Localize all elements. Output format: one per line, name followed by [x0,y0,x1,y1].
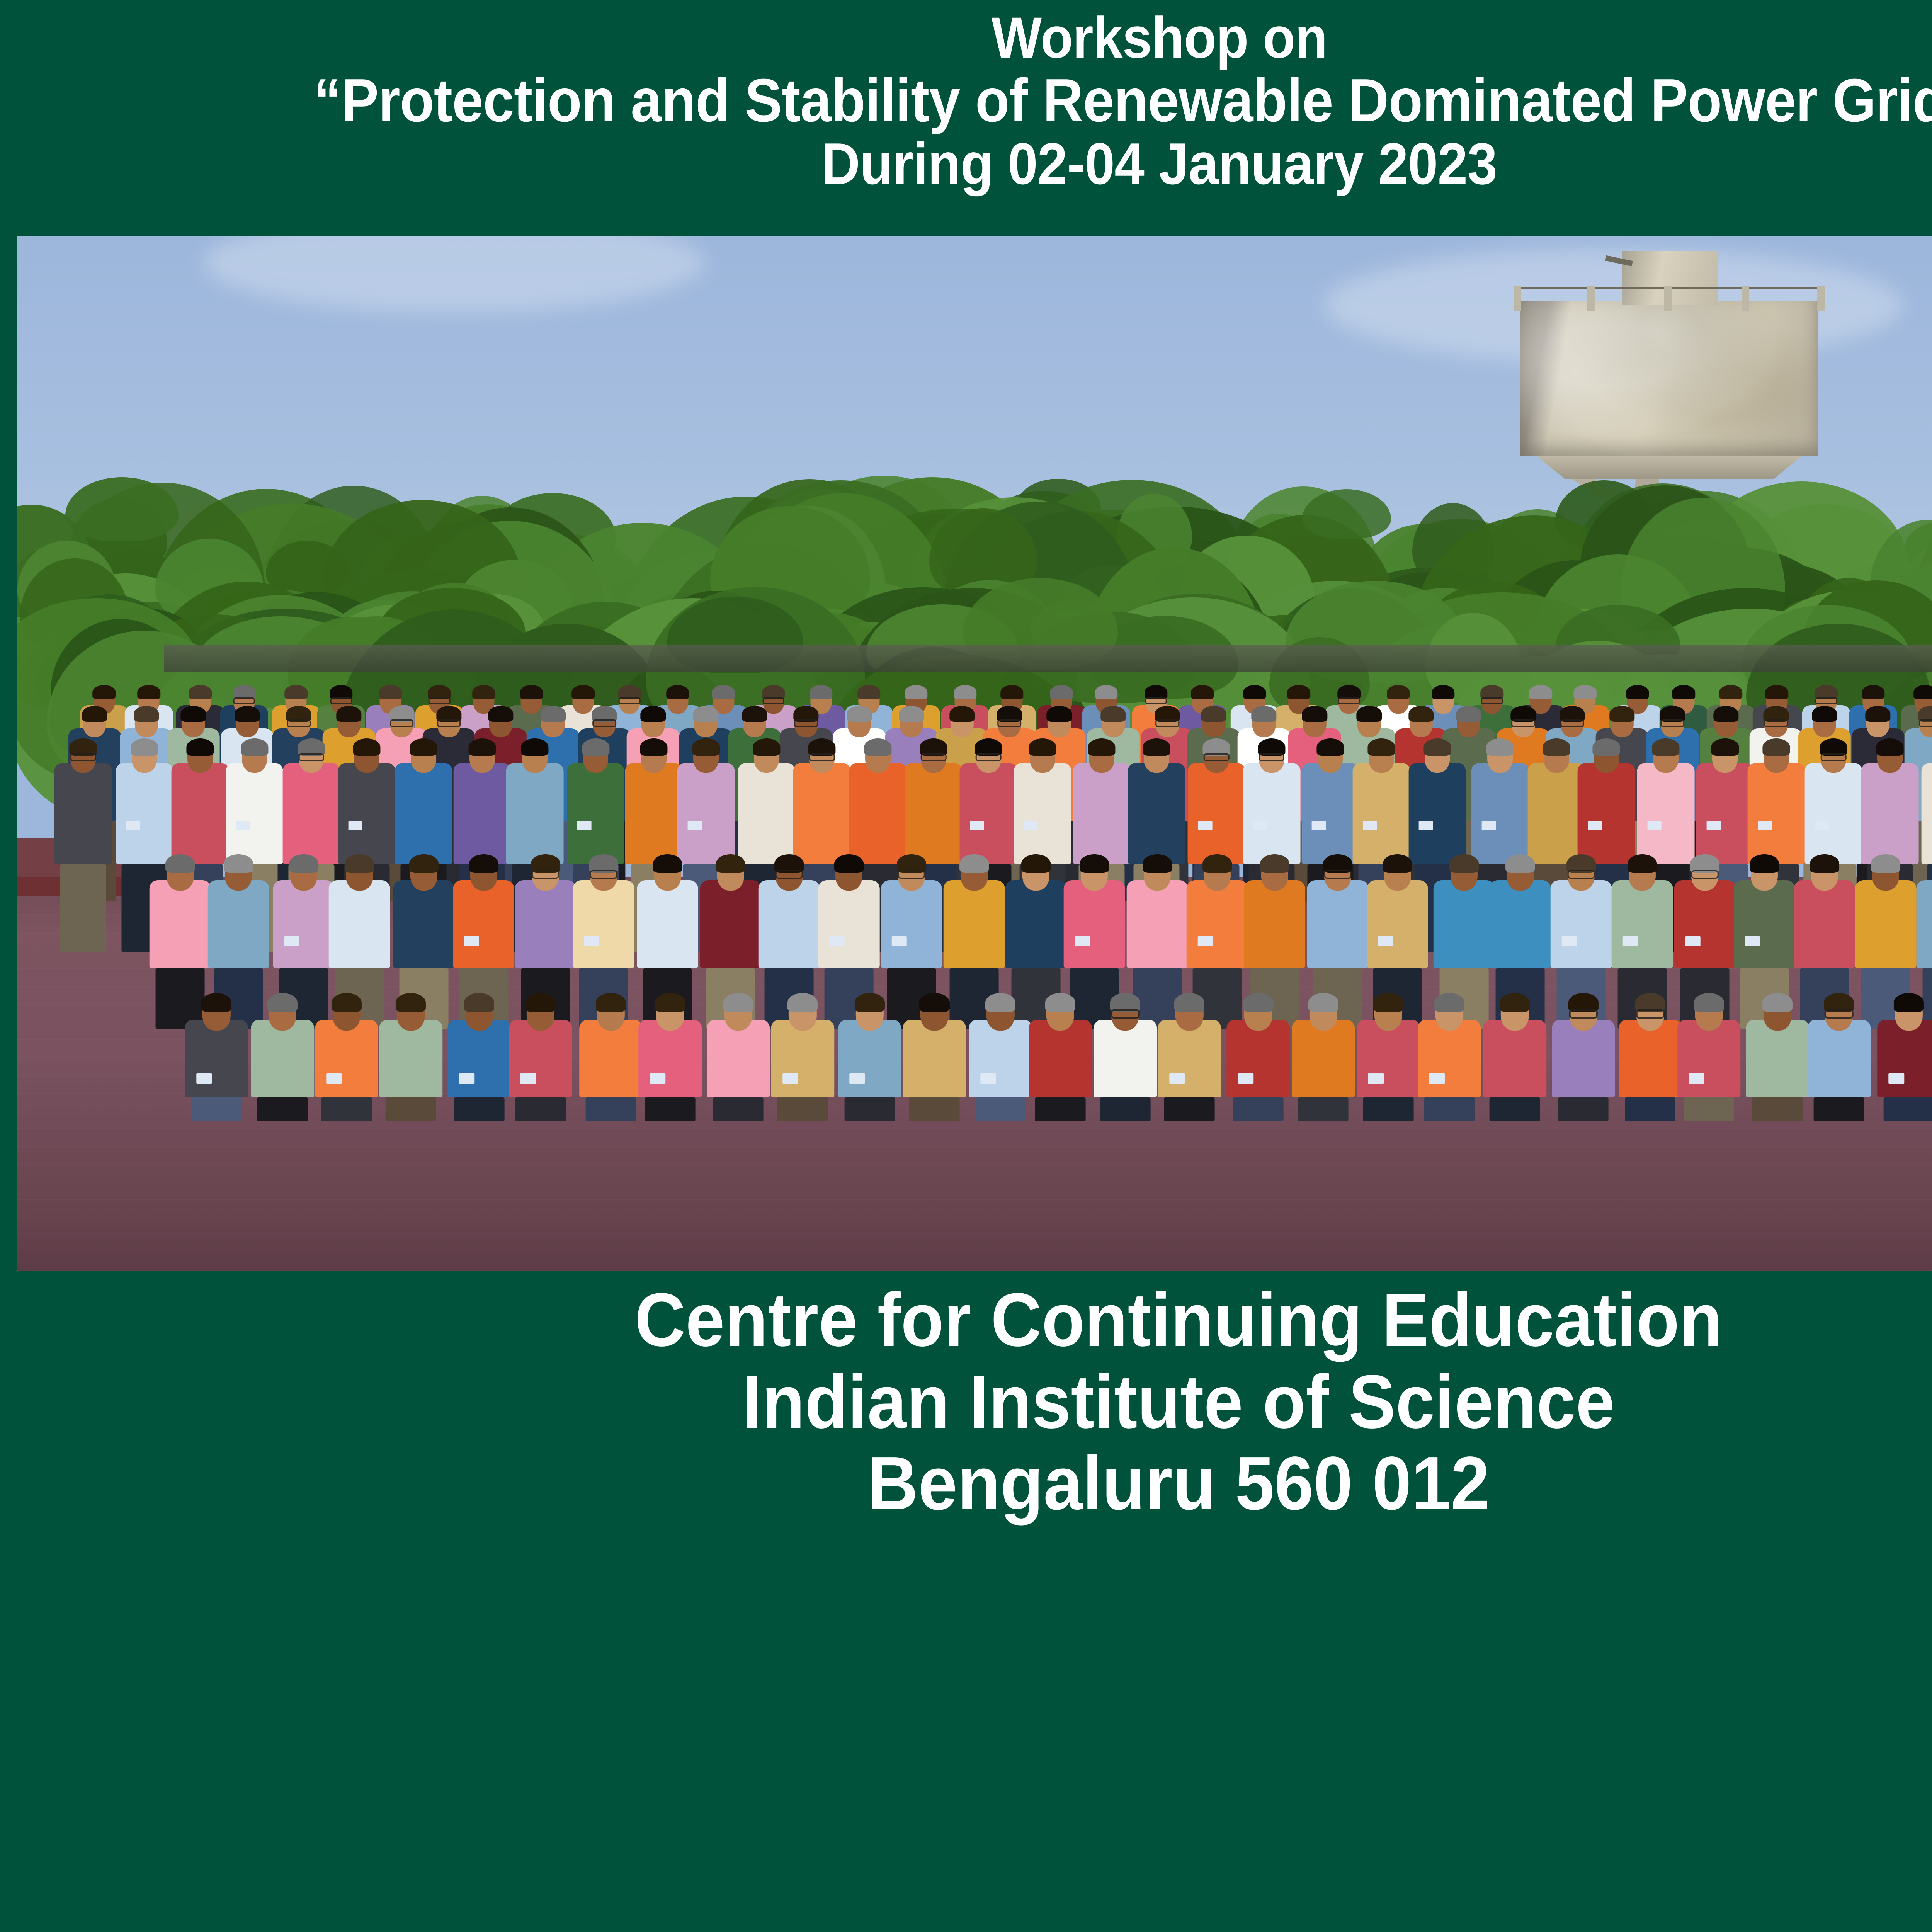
name-badge [1758,821,1772,830]
participant-torso [282,763,340,864]
name-badge [1588,821,1602,830]
participant-lower-body [777,1097,828,1121]
participant-torso [226,763,283,864]
participant-hair [1913,685,1932,700]
participant-lower-body [321,1097,372,1121]
participant-torso [639,1020,702,1097]
name-badge [577,821,592,830]
participant-hair [332,993,362,1012]
participant-hair [1456,706,1481,722]
participant-lower-body [1490,1097,1540,1121]
participant-hair [596,993,626,1012]
participant-lower-body [1035,1097,1086,1121]
name-badge [1685,936,1701,946]
participant-lower-body [1884,1097,1932,1121]
participant-torso [1552,1020,1615,1097]
participant-hair [960,854,989,873]
participant [838,989,901,1124]
participant-lower-body [645,1097,696,1121]
eyeglasses [592,719,616,727]
participant [1029,989,1092,1124]
participant [1158,989,1221,1124]
participant [1292,989,1355,1124]
participant-hair [1287,685,1310,700]
participant-hair [345,854,374,873]
participant-hair [1500,993,1530,1012]
name-badge [782,1073,798,1084]
participant-torso [1094,1020,1156,1097]
participant-hair [712,685,735,700]
name-badge [459,1073,474,1084]
name-badge [1745,936,1760,946]
eyeglasses [1259,753,1284,761]
participant-torso [1577,763,1635,864]
participant-hair [469,854,498,873]
group-photograph [17,236,1932,1271]
participant-lower-body [1363,1097,1414,1121]
participant-hair [1100,706,1126,722]
participant-hair [787,993,818,1012]
participant-torso [379,1020,442,1097]
participant-hair [1592,738,1620,756]
participant-torso [1227,1020,1290,1097]
participant-hair [1486,738,1514,756]
eyeglasses [1661,719,1685,727]
eyeglasses [532,870,559,878]
participant-torso [637,880,698,968]
participant-torso [329,880,390,968]
participant [969,989,1032,1124]
participant-torso [509,1020,572,1097]
participant-hair [1243,993,1273,1012]
name-badge [1024,821,1038,830]
participant-hair [919,993,949,1012]
participant-hair [1719,685,1742,700]
participant-torso [338,763,395,864]
participant-lower-body [515,1097,566,1121]
name-badge [1378,936,1393,946]
participant-torso [677,763,735,864]
eyeglasses [590,870,617,878]
participant [448,989,511,1124]
participant-hair [82,706,107,722]
participant-hair [693,706,718,722]
participant-torso [1408,763,1466,864]
participant-hair [985,993,1015,1012]
participant-torso [1619,1020,1682,1097]
participant-torso [1292,1020,1355,1097]
participant-torso [315,1020,378,1097]
participant [54,735,112,954]
tank-body [1520,301,1818,456]
participant-hair [541,706,566,722]
participant-torso [1073,763,1131,864]
participant-torso [1301,763,1359,864]
participant-torso [1855,880,1917,968]
header-line-title: “Protection and Stability of Renewable D… [313,68,1932,133]
participant-hair [396,993,426,1012]
participant [251,989,314,1124]
participant-hair [1243,685,1266,700]
participant-hair [1373,993,1403,1012]
participant-hair [1201,706,1226,722]
participant-torso [1128,763,1185,864]
participant-torso [1005,880,1067,968]
participant-torso [944,880,1005,968]
name-badge [650,1073,665,1084]
name-badge [196,1073,212,1084]
name-badge [892,936,907,946]
name-badge [1169,1073,1185,1084]
participant-lower-body [585,1097,636,1121]
name-badge [236,821,250,830]
participant-torso [1243,763,1300,864]
name-badge [849,1073,865,1084]
participant [771,989,834,1124]
participant-hair [235,706,260,722]
participant-torso [393,880,454,968]
participant-torso [1244,880,1305,968]
participant-torso [208,880,269,968]
name-badge [284,936,299,946]
participant-hair [857,685,880,700]
participant-torso [1917,880,1932,968]
eyeglasses [1512,719,1536,727]
participant-torso [1794,880,1855,968]
name-badge [1622,936,1638,946]
participant-torso [1064,880,1125,968]
name-badge [1238,1073,1253,1084]
name-badge [126,821,140,830]
participant-torso [1471,763,1529,864]
participant-lower-body [1298,1097,1349,1121]
participant-torso [1014,763,1071,864]
participant-hair [134,706,159,722]
name-badge [688,821,702,830]
participant-hair [336,706,361,722]
participant [185,989,248,1124]
participant-hair [241,738,268,756]
participant-torso [903,1020,966,1097]
participant-hair [1694,993,1724,1012]
participant-lower-body [191,1097,242,1121]
eyeglasses [776,870,803,878]
participant-lower-body [1424,1097,1475,1121]
participant-torso [579,1020,642,1097]
participant [1619,989,1682,1124]
participant-hair [899,706,924,722]
participant-hair [1609,706,1634,722]
participant-hair [641,706,666,722]
participant-hair [810,685,832,700]
eyeglasses [1764,719,1788,727]
participant-torso [1352,763,1410,864]
participant-torso [1696,763,1754,864]
participant-torso [185,1020,248,1097]
participant-hair [224,854,253,873]
participant-hair [409,854,439,873]
eyeglasses [921,753,947,761]
participant-hair [1711,738,1739,756]
participant-hair [1871,854,1900,873]
footer-line-institute: Indian Institute of Science [478,1361,1879,1443]
participant-hair [716,854,745,873]
participant-torso [625,763,682,864]
participant-torso [1158,1020,1221,1097]
participant-torso [573,880,634,968]
participant-hair [1812,706,1837,722]
participant-torso [759,880,820,968]
participant-torso [1187,880,1248,968]
participant-lower-body [844,1097,895,1121]
participant-torso [771,1020,834,1097]
participant-hair [1672,685,1695,700]
name-badge [829,936,844,946]
name-badge [1561,936,1577,946]
participant [1746,989,1809,1124]
participant-torso [453,763,511,864]
participant-torso [1674,880,1736,968]
participant-hair [1865,706,1890,722]
eyeglasses [1568,870,1595,878]
participant-hair [1021,854,1051,873]
participant-hair [201,993,231,1012]
participant-torso [1746,1020,1809,1097]
participant-hair [472,685,495,700]
participant [1357,989,1420,1124]
participant-torso [849,763,907,864]
eyeglasses [287,719,311,727]
participant-torso [395,763,452,864]
participant-hair [1423,738,1451,756]
participant-hair [1080,854,1109,873]
participant-hair [1750,854,1779,873]
participant-lower-body [257,1097,308,1121]
participant-hair [1174,993,1204,1012]
participant-lower-body [1625,1097,1675,1121]
participant-hair [1876,738,1903,756]
participant-hair [488,706,513,722]
poster-header: Workshop on “Protection and Stability of… [0,0,1932,236]
participant-lower-body [713,1097,764,1121]
participant-hair [1810,854,1839,873]
eyeglasses [1111,1009,1140,1019]
participant-torso [150,880,211,968]
eyeglasses [1560,719,1584,727]
participant-hair [284,685,307,700]
poster-canvas: Workshop on “Protection and Stability of… [0,0,1932,1546]
participant-lower-body [1814,1097,1864,1121]
name-badge [980,1073,996,1084]
participant-torso [567,763,624,864]
participant-torso [1528,763,1585,864]
poster-footer: Centre for Continuing Education Indian I… [0,1271,1932,1546]
participant-hair [1050,685,1073,700]
eyeglasses [1155,719,1179,727]
participant-hair [187,738,214,756]
participant [707,989,770,1124]
participant-torso [515,880,576,968]
name-badge [1419,821,1433,830]
participant-hair [1191,685,1214,700]
eyeglasses [437,719,461,727]
eyeglasses [70,753,96,761]
participant-hair [1449,854,1479,873]
footer-line-centre: Centre for Continuing Education [478,1279,1879,1361]
participant-hair [1302,706,1327,722]
eyeglasses [1569,1009,1598,1019]
tank-railing [1514,287,1825,311]
participant-torso [453,880,515,968]
participant-hair [1260,854,1289,873]
participant-hair [582,738,609,756]
eyeglasses [1204,753,1230,761]
participant-hair [1143,854,1172,873]
participant-torso [1127,880,1188,968]
participant-torso [700,880,761,968]
participant-hair [1543,738,1570,756]
participant-hair [1434,993,1464,1012]
participant-torso [116,763,173,864]
participant-hair [753,738,780,756]
name-badge [348,821,362,830]
participant-hair [181,706,206,722]
participant-hair [379,685,402,700]
participant [1094,989,1156,1124]
eyeglasses [997,719,1021,727]
participant-hair [1432,685,1454,700]
participant-hair [189,685,212,700]
participant-hair [1143,738,1170,756]
participant-hair [410,738,437,756]
participant-hair [1045,993,1075,1012]
participant-hair [1762,738,1790,756]
name-badge [1368,1073,1384,1084]
name-badge [1815,821,1829,830]
participant-torso [881,880,942,968]
name-badge [1197,936,1213,946]
footer-text-block: Centre for Continuing Education Indian I… [478,1279,1879,1524]
participant-hair [905,685,927,700]
participant-hair [1862,685,1884,700]
participants-group [17,583,1932,1163]
header-line-workshop-on: Workshop on [992,7,1327,68]
participant-lower-body [1752,1097,1803,1121]
participant-hair [640,738,667,756]
eyeglasses [1636,1009,1665,1019]
participant-torso [707,1020,770,1097]
eyeglasses [298,753,324,761]
participant-torso [1805,763,1862,864]
participant-hair [464,993,494,1012]
participant-lower-body [1233,1097,1284,1121]
eyeglasses [1324,870,1352,878]
participant-hair [1408,706,1434,722]
participant-hair [1762,993,1793,1012]
participant-torso [1734,880,1795,968]
name-badge [520,1073,536,1084]
participant-lower-body [1164,1097,1215,1121]
participant-torso [1307,880,1369,968]
participant-torso [1877,1020,1932,1097]
eyeglasses [898,870,925,878]
participant-torso [1551,880,1612,968]
header-line-dates: During 02-04 January 2023 [821,133,1497,195]
participant-hair [1095,685,1117,700]
participant-torso [1861,763,1919,864]
participant [1807,989,1870,1124]
participant-hair [1529,685,1552,700]
participant-hair [138,685,160,700]
eyeglasses [1919,719,1932,727]
participant [639,989,702,1124]
participant-hair [521,738,548,756]
participant-lower-body [386,1097,436,1121]
participant-torso [1188,763,1245,864]
participant-torso [1677,1020,1740,1097]
participant-hair [93,685,116,700]
participant-torso [1807,1020,1870,1097]
participant-torso [172,763,229,864]
participant [903,989,966,1124]
eyeglasses [809,753,835,761]
participant-hair [855,993,885,1012]
participant-torso [506,763,563,864]
participant [1552,989,1615,1124]
participant-hair [1251,706,1276,722]
name-badge [1707,821,1721,830]
participant-hair [1626,685,1649,700]
name-badge [1253,821,1267,830]
participant-lower-body [1558,1097,1609,1121]
participant-hair [520,685,543,700]
participant [315,989,378,1124]
participant-torso [1637,763,1694,864]
participant-hair [1765,685,1788,700]
participant-torso [1747,763,1805,864]
participant-hair [1047,706,1072,722]
participant-hair [1387,685,1410,700]
participant-hair [468,738,496,756]
participant-lower-body [454,1097,505,1121]
participant-hair [1628,854,1657,873]
name-badge [326,1073,342,1084]
participant-hair [1029,738,1056,756]
participant [379,989,442,1124]
participant-torso [969,1020,1032,1097]
participant-hair [692,738,720,756]
participant-torso [1029,1020,1092,1097]
participant-torso [1483,1020,1546,1097]
participant-hair [289,854,318,873]
participant [1877,989,1932,1124]
participant-hair [1316,738,1344,756]
name-badge [1689,1073,1704,1084]
participant-hair [1202,854,1232,873]
participant-hair [131,738,158,756]
participant-hair [526,993,556,1012]
participant-lower-body [1100,1097,1151,1121]
participant-hair [653,854,682,873]
participant [509,989,572,1124]
participant-lower-body [1684,1097,1734,1121]
name-badge [1429,1073,1445,1084]
participant-hair [1894,993,1924,1012]
participant-lower-body [60,864,106,952]
participant-torso [1418,1020,1481,1097]
participant-hair [353,738,380,756]
participant-hair [1383,854,1412,873]
